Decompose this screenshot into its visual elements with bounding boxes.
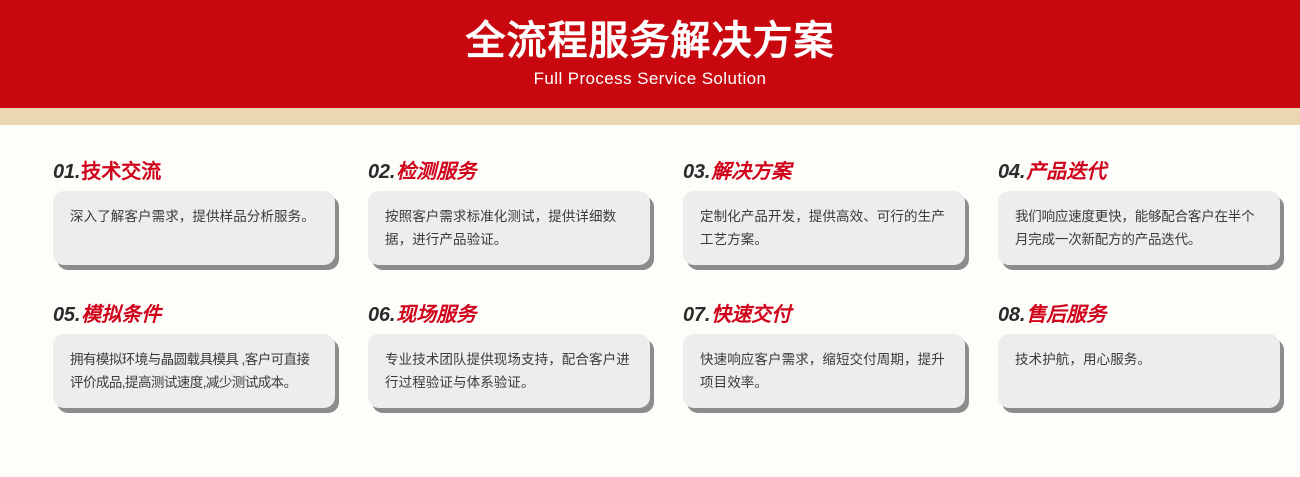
service-card-body: 专业技术团队提供现场支持，配合客户进行过程验证与体系验证。 bbox=[368, 334, 650, 408]
service-card-body: 技术护航，用心服务。 bbox=[998, 334, 1280, 408]
page-subtitle: Full Process Service Solution bbox=[534, 69, 767, 89]
service-card-description: 深入了解客户需求，提供样品分析服务。 bbox=[70, 205, 315, 228]
service-card-heading: 08. 售后服务 bbox=[998, 298, 1247, 326]
service-card-body: 快速响应客户需求，缩短交付周期，提升项目效率。 bbox=[683, 334, 965, 408]
service-card-grid: 01. 技术交流 深入了解客户需求，提供样品分析服务。 02. 检测服务 按照客… bbox=[0, 155, 1300, 441]
service-card-description: 专业技术团队提供现场支持，配合客户进行过程验证与体系验证。 bbox=[385, 348, 634, 394]
service-card-heading: 04. 产品迭代 bbox=[998, 155, 1247, 183]
service-card-number: 06. bbox=[368, 304, 395, 327]
banner-accent-strip bbox=[0, 108, 1300, 125]
service-card-body: 定制化产品开发，提供高效、可行的生产工艺方案。 bbox=[683, 191, 965, 265]
service-card[interactable]: 05. 模拟条件 拥有模拟环境与晶圆载具模具 ,客户可直接评价成品,提高测试速度… bbox=[20, 298, 335, 441]
service-card-title: 售后服务 bbox=[1026, 298, 1106, 327]
service-card-heading: 05. 模拟条件 bbox=[53, 298, 302, 326]
service-card-number: 01. bbox=[53, 161, 80, 184]
service-card-description: 定制化产品开发，提供高效、可行的生产工艺方案。 bbox=[700, 205, 949, 251]
service-card[interactable]: 02. 检测服务 按照客户需求标准化测试，提供详细数据，进行产品验证。 bbox=[335, 155, 650, 298]
service-card-number: 08. bbox=[998, 304, 1025, 327]
service-solution-infographic: 全流程服务解决方案 Full Process Service Solution … bbox=[0, 0, 1300, 477]
service-card-number: 07. bbox=[683, 304, 710, 327]
service-card-body: 我们响应速度更快，能够配合客户在半个月完成一次新配方的产品迭代。 bbox=[998, 191, 1280, 265]
service-card-number: 02. bbox=[368, 161, 395, 184]
service-card-description: 拥有模拟环境与晶圆载具模具 ,客户可直接评价成品,提高测试速度,减少测试成本。 bbox=[70, 348, 319, 394]
service-card-title: 现场服务 bbox=[396, 298, 476, 327]
header-banner: 全流程服务解决方案 Full Process Service Solution bbox=[0, 0, 1300, 108]
service-card-title: 检测服务 bbox=[396, 155, 476, 184]
service-card-heading: 07. 快速交付 bbox=[683, 298, 932, 326]
service-card[interactable]: 06. 现场服务 专业技术团队提供现场支持，配合客户进行过程验证与体系验证。 bbox=[335, 298, 650, 441]
service-card[interactable]: 08. 售后服务 技术护航，用心服务。 bbox=[965, 298, 1280, 441]
service-card-number: 05. bbox=[53, 304, 80, 327]
service-card-description: 我们响应速度更快，能够配合客户在半个月完成一次新配方的产品迭代。 bbox=[1015, 205, 1264, 251]
service-card-heading: 03. 解决方案 bbox=[683, 155, 932, 183]
service-card[interactable]: 01. 技术交流 深入了解客户需求，提供样品分析服务。 bbox=[20, 155, 335, 298]
page-title: 全流程服务解决方案 bbox=[466, 19, 835, 64]
service-card-heading: 06. 现场服务 bbox=[368, 298, 617, 326]
service-card-description: 技术护航，用心服务。 bbox=[1015, 348, 1151, 371]
service-card[interactable]: 07. 快速交付 快速响应客户需求，缩短交付周期，提升项目效率。 bbox=[650, 298, 965, 441]
service-card[interactable]: 03. 解决方案 定制化产品开发，提供高效、可行的生产工艺方案。 bbox=[650, 155, 965, 298]
service-card-body: 按照客户需求标准化测试，提供详细数据，进行产品验证。 bbox=[368, 191, 650, 265]
service-card-body: 深入了解客户需求，提供样品分析服务。 bbox=[53, 191, 335, 265]
service-card-description: 快速响应客户需求，缩短交付周期，提升项目效率。 bbox=[700, 348, 949, 394]
service-card-title: 模拟条件 bbox=[81, 298, 161, 327]
service-card-body: 拥有模拟环境与晶圆载具模具 ,客户可直接评价成品,提高测试速度,减少测试成本。 bbox=[53, 334, 335, 408]
service-card-heading: 02. 检测服务 bbox=[368, 155, 617, 183]
service-card-title: 解决方案 bbox=[711, 155, 791, 184]
service-card-heading: 01. 技术交流 bbox=[53, 155, 302, 183]
service-card-number: 03. bbox=[683, 161, 710, 184]
service-card-title: 产品迭代 bbox=[1026, 155, 1106, 184]
service-card-number: 04. bbox=[998, 161, 1025, 184]
service-card[interactable]: 04. 产品迭代 我们响应速度更快，能够配合客户在半个月完成一次新配方的产品迭代… bbox=[965, 155, 1280, 298]
service-card-title: 快速交付 bbox=[711, 298, 791, 327]
service-card-title: 技术交流 bbox=[81, 155, 161, 184]
service-card-description: 按照客户需求标准化测试，提供详细数据，进行产品验证。 bbox=[385, 205, 634, 251]
